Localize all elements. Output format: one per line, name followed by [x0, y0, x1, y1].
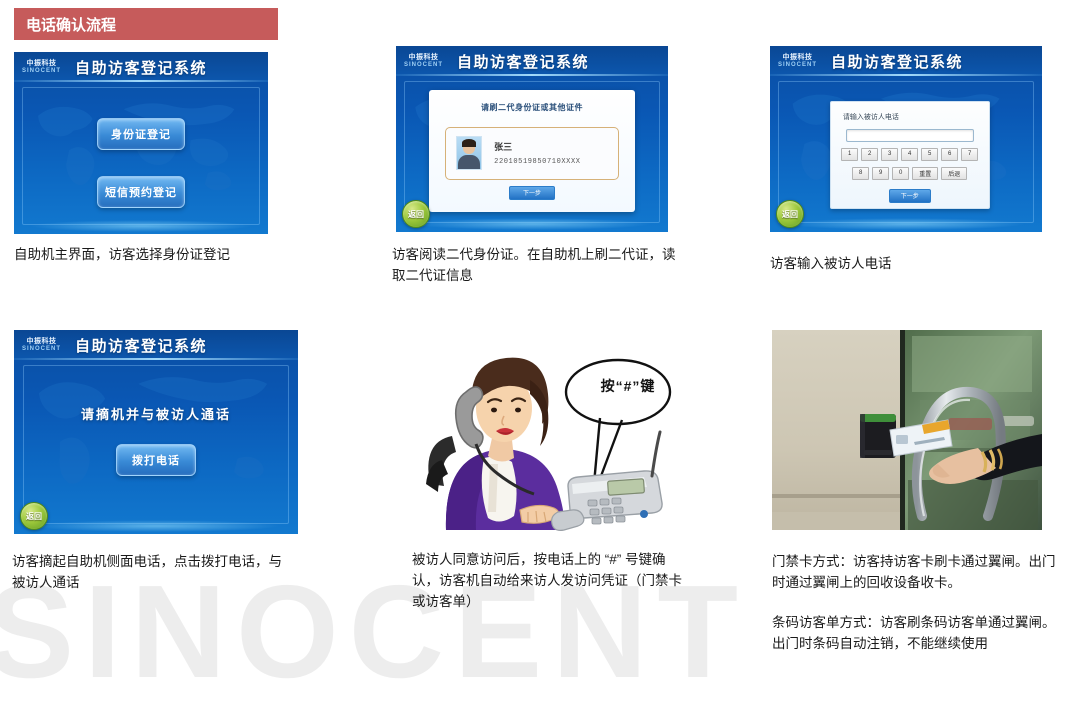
phone-number-input[interactable]: [846, 129, 974, 142]
kiosk-frame-4: 中振科技 SINOCENT 自助访客登记系统 请摘机并与被访人通话: [14, 330, 298, 534]
section-title: 电话确认流程: [14, 8, 278, 40]
visitor-photo: [456, 136, 482, 170]
keypad-key-6[interactable]: 6: [941, 148, 958, 161]
idcard-text-block: 张三 22010519850710XXXX: [494, 140, 580, 166]
kiosk-header-3: 中振科技 SINOCENT 自助访客登记系统: [770, 46, 1042, 76]
keypad-key-1[interactable]: 1: [841, 148, 858, 161]
keypad-key-4[interactable]: 4: [901, 148, 918, 161]
kiosk-glow-1: [29, 220, 253, 232]
sms-appointment-register-button[interactable]: 短信预约登记: [97, 176, 185, 208]
keypad-row-2: 8 9 0 重置 后退: [831, 167, 989, 180]
call-instruction-text: 请摘机并与被访人通话: [14, 404, 298, 423]
brand-logo: 中振科技 SINOCENT: [22, 338, 61, 352]
brand-logo-en: SINOCENT: [404, 62, 443, 68]
card-swipe-photo-graphic: [772, 330, 1042, 530]
kiosk-body-3: 请输入被访人电话 1 2 3 4 5 6 7 8 9 0: [770, 76, 1042, 232]
keypad-backspace-button[interactable]: 后退: [941, 167, 967, 180]
phone-confirmation-illustration: 按“#”键: [412, 334, 698, 534]
next-step-button[interactable]: 下一步: [509, 186, 555, 200]
kiosk-screen-call[interactable]: 中振科技 SINOCENT 自助访客登记系统 请摘机并与被访人通话: [14, 330, 298, 534]
access-card-photo: [772, 330, 1042, 530]
phone-entry-prompt: 请输入被访人电话: [831, 102, 989, 122]
visitor-id-number: 22010519850710XXXX: [494, 158, 580, 166]
call-button-group: 拨打电话: [14, 444, 298, 476]
keypad-key-3[interactable]: 3: [881, 148, 898, 161]
caption-phone-entry-screen: 访客输入被访人电话: [770, 253, 1060, 274]
kiosk-screen-idcard[interactable]: 中振科技 SINOCENT 自助访客登记系统 请刷二代身份证或其他证件: [396, 46, 668, 232]
keypad-key-8[interactable]: 8: [852, 167, 869, 180]
keypad-key-5[interactable]: 5: [921, 148, 938, 161]
idcard-info-box: 张三 22010519850710XXXX: [445, 127, 619, 181]
brand-logo-en: SINOCENT: [22, 346, 61, 352]
id-card-register-button[interactable]: 身份证登记: [97, 118, 185, 150]
brand-logo: 中振科技 SINOCENT: [778, 54, 817, 68]
kiosk-title-1: 自助访客登记系统: [75, 57, 207, 78]
caption-confirm-step: 被访人同意访问后，按电话上的 “#” 号键确认，访客机自动给来访人发访问凭证（门…: [412, 549, 692, 612]
kiosk-header-2: 中振科技 SINOCENT 自助访客登记系统: [396, 46, 668, 76]
kiosk-body-2: 请刷二代身份证或其他证件 张三 22010519850710XXXX 下一步: [396, 76, 668, 232]
kiosk-header-4: 中振科技 SINOCENT 自助访客登记系统: [14, 330, 298, 360]
brand-logo-en: SINOCENT: [22, 68, 61, 74]
kiosk-screen-home[interactable]: 中振科技 SINOCENT 自助访客登记系统: [14, 52, 268, 234]
home-button-group: 身份证登记 短信预约登记: [14, 118, 268, 208]
keypad-key-7[interactable]: 7: [961, 148, 978, 161]
keypad-row-1: 1 2 3 4 5 6 7: [831, 148, 989, 161]
kiosk-body-1: 身份证登记 短信预约登记: [14, 82, 268, 234]
kiosk-frame-3: 中振科技 SINOCENT 自助访客登记系统 请输入被访人电话: [770, 46, 1042, 232]
brand-logo: 中振科技 SINOCENT: [404, 54, 443, 68]
kiosk-title-3: 自助访客登记系统: [831, 51, 963, 72]
kiosk-title-4: 自助访客登记系统: [75, 335, 207, 356]
brand-logo-cn: 中振科技: [22, 338, 61, 345]
caption-barcode-slip-method: 条码访客单方式：访客刷条码访客单通过翼闸。出门时条码自动注销，不能继续使用: [772, 612, 1062, 654]
keypad-key-2[interactable]: 2: [861, 148, 878, 161]
caption-call-screen: 访客摘起自助机侧面电话，点击拨打电话，与被访人通话: [12, 551, 284, 593]
next-step-button[interactable]: 下一步: [889, 189, 931, 203]
kiosk-screen-phone-entry[interactable]: 中振科技 SINOCENT 自助访客登记系统 请输入被访人电话: [770, 46, 1042, 232]
kiosk-header-1: 中振科技 SINOCENT 自助访客登记系统: [14, 52, 268, 82]
caption-access-card-method: 门禁卡方式：访客持访客卡刷卡通过翼闸。出门时通过翼闸上的回收设备收卡。: [772, 551, 1062, 593]
keypad-reset-button[interactable]: 重置: [912, 167, 938, 180]
brand-logo-en: SINOCENT: [778, 62, 817, 68]
kiosk-glow-4: [31, 520, 281, 532]
dial-phone-button[interactable]: 拨打电话: [116, 444, 196, 476]
kiosk-frame-1: 中振科技 SINOCENT 自助访客登记系统: [14, 52, 268, 234]
woman-on-phone-graphic: [412, 334, 698, 534]
caption-gate-methods: 门禁卡方式：访客持访客卡刷卡通过翼闸。出门时通过翼闸上的回收设备收卡。 条码访客…: [772, 551, 1062, 654]
illustration-canvas: 按“#”键: [412, 334, 698, 534]
keypad-key-0[interactable]: 0: [892, 167, 909, 180]
visitor-name: 张三: [494, 140, 580, 153]
idcard-dialog: 请刷二代身份证或其他证件 张三 22010519850710XXXX 下一步: [429, 90, 636, 212]
idcard-prompt: 请刷二代身份证或其他证件: [429, 90, 636, 113]
speech-bubble-text: 按“#”键: [580, 376, 676, 396]
brand-logo-cn: 中振科技: [404, 54, 443, 61]
kiosk-title-2: 自助访客登记系统: [457, 51, 589, 72]
kiosk-glow-3: [786, 218, 1025, 230]
brand-logo: 中振科技 SINOCENT: [22, 60, 61, 74]
brand-logo-cn: 中振科技: [778, 54, 817, 61]
phone-entry-dialog: 请输入被访人电话 1 2 3 4 5 6 7 8 9 0: [830, 101, 990, 209]
caption-idcard-screen: 访客阅读二代身份证。在自助机上刷二代证，读取二代证信息: [392, 244, 682, 286]
door-photo-canvas: [772, 330, 1042, 530]
kiosk-frame-2: 中振科技 SINOCENT 自助访客登记系统 请刷二代身份证或其他证件: [396, 46, 668, 232]
caption-home-screen: 自助机主界面，访客选择身份证登记: [14, 244, 314, 265]
keypad-key-9[interactable]: 9: [872, 167, 889, 180]
brand-logo-cn: 中振科技: [22, 60, 61, 67]
kiosk-body-4: 请摘机并与被访人通话 拨打电话 返回: [14, 360, 298, 534]
kiosk-glow-2: [412, 218, 651, 230]
